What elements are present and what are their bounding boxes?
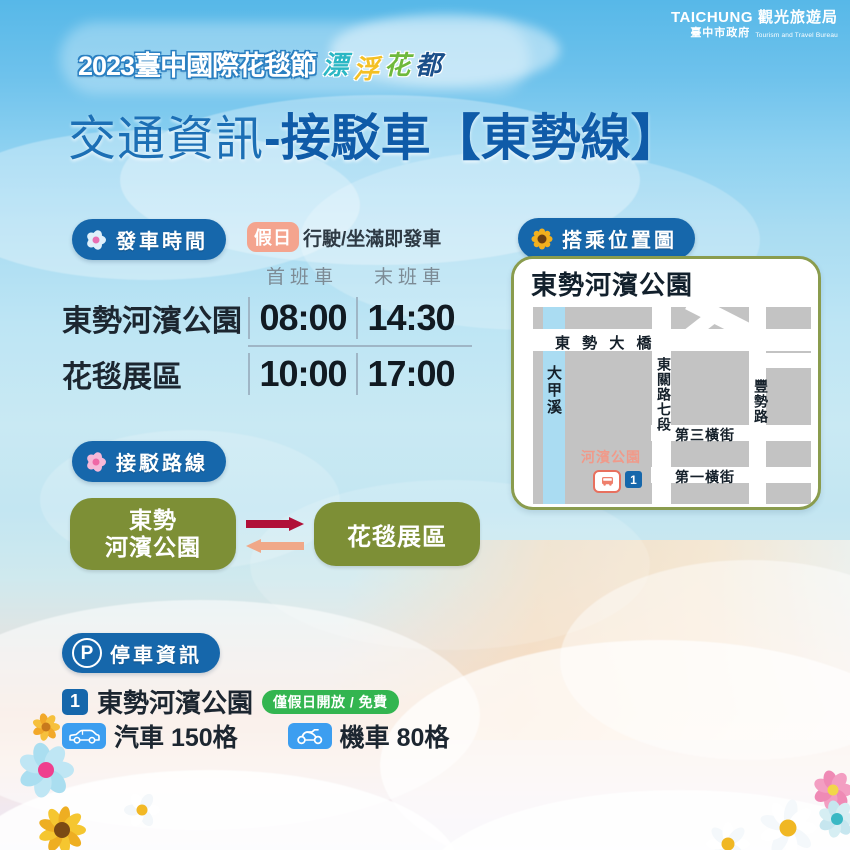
timetable-first-bus: 08:00 <box>250 297 356 339</box>
parking-lot-entry: 1 東勢河濱公園 僅假日開放 / 免費 <box>62 683 399 720</box>
festival-title: 2023臺中國際花毯節 漂 浮 花 都 <box>78 44 440 83</box>
route-destination-label: 花毯展區 <box>347 517 447 552</box>
parking-space-list: 汽車 150格 機車 80格 <box>62 718 449 754</box>
map-label-riverside-park: 河濱公園 <box>581 447 641 467</box>
section-header-map: 搭乘位置圖 <box>518 218 695 259</box>
shuttle-route-diagram: 東勢 河濱公園 花毯展區 <box>70 498 480 570</box>
festival-title-main: 2023臺中國際花毯節 <box>78 44 316 83</box>
boarding-location-map: 東勢河濱公園 東 勢 大 橋 大甲溪 東關路七段 第三橫街 第一橫街 豐勢路 河… <box>511 256 821 510</box>
scooter-icon <box>288 723 332 749</box>
timetable-header-first: 首班車 <box>248 262 356 293</box>
timetable-first-bus: 10:00 <box>250 353 356 395</box>
map-stop-number: 1 <box>625 471 642 488</box>
parking-space-scooter-label: 機車 80格 <box>340 718 450 754</box>
parking-space-scooter: 機車 80格 <box>288 718 450 754</box>
timetable-header-last: 末班車 <box>356 262 464 293</box>
section-header-departure-time: 發車時間 <box>72 219 226 260</box>
page-title: 交通資訊 -接駁車【東勢線】 <box>68 98 681 170</box>
logo-government-cn: 臺中市政府 <box>690 28 750 39</box>
route-origin-box: 東勢 河濱公園 <box>70 498 236 570</box>
white-daisy-decoration <box>752 800 824 850</box>
logo-bureau-cn: 觀光旅遊局 <box>758 10 838 25</box>
timetable-station-name: 東勢河濱公園 <box>62 296 248 340</box>
timetable-header-row: 首班車 末班車 <box>62 262 472 293</box>
parking-availability-badge: 僅假日開放 / 免費 <box>262 690 399 714</box>
bus-stop-icon <box>593 470 621 493</box>
map-label-road-dongguan: 東關路七段 <box>654 357 674 432</box>
timetable-last-bus: 14:30 <box>358 297 464 339</box>
parking-space-car: 汽車 150格 <box>62 718 238 754</box>
festival-subtitle-char-4: 都 <box>415 45 440 82</box>
blue-flower-decoration <box>8 740 84 800</box>
route-arrows <box>236 517 314 552</box>
festival-subtitle-char-2: 浮 <box>353 49 378 86</box>
cherry-blossom-icon <box>84 451 108 473</box>
section-header-parking: P 停車資訊 <box>62 633 220 673</box>
map-label-road-third: 第三橫街 <box>675 425 735 445</box>
arrow-return-icon <box>246 539 304 552</box>
map-label-road-first: 第一橫街 <box>675 467 735 487</box>
infographic-canvas: TAICHUNG 觀光旅遊局 臺中市政府 Tourism and Travel … <box>0 0 850 850</box>
route-origin-line2: 河濱公園 <box>105 534 201 561</box>
timetable-station-name: 花毯展區 <box>62 352 248 396</box>
route-destination-box: 花毯展區 <box>314 502 480 566</box>
timetable-last-bus: 17:00 <box>358 353 464 395</box>
parking-p-icon: P <box>72 638 102 668</box>
section-header-parking-label: 停車資訊 <box>110 639 202 668</box>
logo-bureau-en: Tourism and Travel Bureau <box>755 33 838 40</box>
section-header-map-label: 搭乘位置圖 <box>562 224 677 253</box>
table-row: 東勢河濱公園 08:00 14:30 <box>62 293 472 343</box>
festival-subtitle-char-3: 花 <box>384 45 409 82</box>
holiday-note: 假日 行駛/坐滿即發車 <box>247 222 441 252</box>
timetable-header-station <box>62 276 248 280</box>
table-row: 花毯展區 10:00 17:00 <box>62 349 472 399</box>
road-horizontal-right-stub <box>766 353 814 368</box>
logo-brand-en: TAICHUNG <box>671 10 753 25</box>
departure-timetable: 首班車 末班車 東勢河濱公園 08:00 14:30 花毯展區 10:00 17… <box>62 262 472 399</box>
cherry-blossom-icon <box>84 229 108 251</box>
festival-subtitle-char-1: 漂 <box>322 45 347 82</box>
taichung-tourism-logo: TAICHUNG 觀光旅遊局 臺中市政府 Tourism and Travel … <box>671 10 838 39</box>
parking-lot-name: 東勢河濱公園 <box>97 683 253 720</box>
daisy-flower-decoration <box>18 710 74 744</box>
section-header-route-label: 接駁路線 <box>116 447 208 476</box>
map-label-bridge: 東 勢 大 橋 <box>555 332 656 353</box>
map-canvas: 東 勢 大 橋 大甲溪 東關路七段 第三橫街 第一橫街 豐勢路 河濱公園 1 <box>521 307 811 504</box>
arrow-forward-icon <box>246 517 304 530</box>
page-title-bold: -接駁車【東勢線】 <box>264 98 681 170</box>
map-card-title: 東勢河濱公園 <box>514 259 818 307</box>
holiday-note-text: 行駛/坐滿即發車 <box>303 224 441 251</box>
sunflower-icon <box>530 228 554 250</box>
small-flower-decoration <box>118 790 166 830</box>
holiday-badge: 假日 <box>247 222 299 252</box>
road-vertical-left <box>521 307 533 504</box>
map-label-road-fengshi: 豐勢路 <box>751 379 771 424</box>
row-divider <box>248 345 472 347</box>
sunflower-decoration <box>30 805 94 850</box>
white-daisy-decoration <box>700 822 756 850</box>
page-title-light: 交通資訊 <box>68 99 264 169</box>
section-header-route: 接駁路線 <box>72 441 226 482</box>
route-origin-line1: 東勢 <box>129 507 177 534</box>
map-label-river: 大甲溪 <box>543 365 564 416</box>
parking-space-car-label: 汽車 150格 <box>114 718 238 754</box>
section-header-departure-label: 發車時間 <box>116 225 208 254</box>
